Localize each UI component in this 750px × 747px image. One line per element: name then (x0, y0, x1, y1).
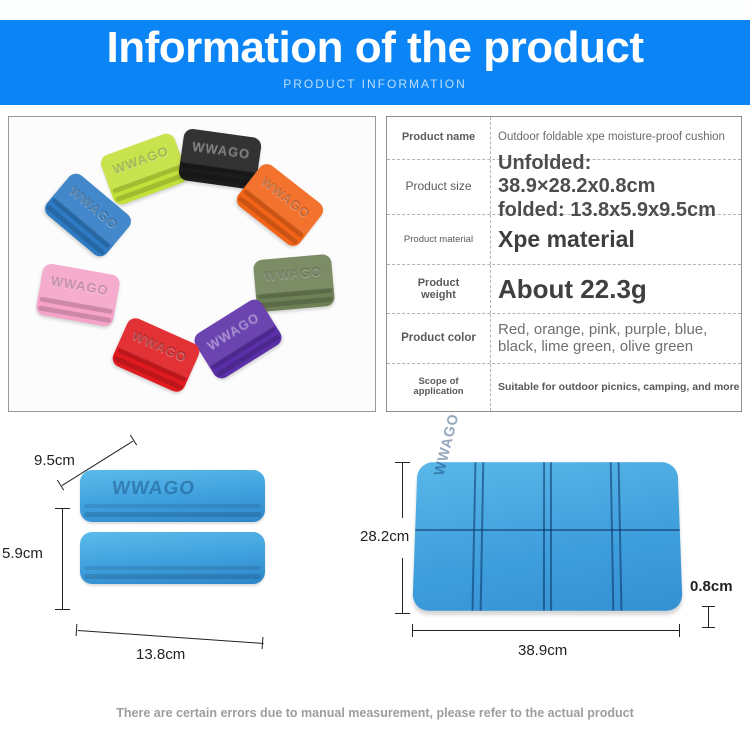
slab-fold-line (84, 512, 262, 517)
unfolded-height-dimension-line-upper (402, 462, 403, 518)
mat-horizontal-fold (415, 529, 680, 530)
unfolded-width-dimension-line (412, 630, 680, 631)
pink-cushion: WWAGO (35, 263, 121, 328)
table-row: Scope of application Suitable for outdoo… (387, 364, 741, 411)
specification-table: Product name Outdoor foldable xpe moistu… (386, 116, 742, 412)
table-row: Product size Unfolded: 38.9×28.2x0.8cm f… (387, 160, 741, 216)
unfolded-width-tick-end (679, 624, 680, 637)
red-cushion: WWAGO (110, 315, 202, 394)
unfolded-thickness-tick-bottom (702, 627, 715, 628)
unfolded-height-label: 28.2cm (360, 528, 409, 545)
unfolded-mat-body: WWAGO (412, 462, 682, 611)
folded-slab-bottom (80, 532, 265, 584)
spec-value: About 22.3g (491, 265, 741, 313)
dimension-diagrams-section: 9.5cm 5.9cm WWAGO 13.8cm 28.2cm (0, 430, 750, 695)
folded-width-label: 13.8cm (136, 646, 185, 663)
mat-vertical-fold (610, 462, 615, 611)
unfolded-thickness-dimension-line (708, 606, 709, 628)
folded-height-tick-top (55, 508, 70, 509)
unfolded-height-tick-top (395, 462, 410, 463)
table-row: Product weight About 22.3g (387, 265, 741, 314)
slab-fold-line (84, 504, 262, 508)
spec-label: Product size (387, 160, 491, 215)
unfolded-thickness-tick-top (702, 606, 715, 607)
mat-vertical-fold (480, 462, 485, 611)
spec-label: Scope of application (387, 364, 491, 411)
spec-label: Product weight (387, 265, 491, 313)
unfolded-height-tick-bottom (395, 613, 410, 614)
spec-label: Product name (387, 117, 491, 159)
table-row: Product material Xpe material (387, 215, 741, 265)
page-subtitle: PRODUCT INFORMATION (283, 77, 467, 91)
table-row: Product color Red, orange, pink, purple,… (387, 314, 741, 364)
folded-width-dimension-line (78, 630, 264, 644)
mat-vertical-fold (471, 462, 476, 611)
folded-depth-tick-end (130, 435, 137, 446)
product-photo-panel: WWAGO WWAGO WWAGO WWAGO (8, 116, 376, 412)
unfolded-width-label: 38.9cm (518, 642, 567, 659)
folded-height-dimension-line (62, 508, 63, 610)
unfolded-height-dimension-line-lower (402, 558, 403, 614)
spec-label: Product color (387, 314, 491, 363)
page-title: Information of the product (107, 26, 644, 70)
spec-value: Suitable for outdoor picnics, camping, a… (491, 364, 741, 411)
header-banner-area: Information of the product PRODUCT INFOR… (0, 0, 750, 108)
cushion-brand-emboss: WWAGO (111, 478, 196, 500)
mat-vertical-fold (550, 462, 552, 611)
product-overview-section: WWAGO WWAGO WWAGO WWAGO (0, 108, 750, 426)
spec-value: Unfolded: 38.9×28.2x0.8cm folded: 13.8x5… (491, 160, 741, 215)
unfolded-thickness-label: 0.8cm (690, 578, 733, 595)
folded-height-tick-bottom (55, 609, 70, 610)
folded-cushion-body: WWAGO (80, 470, 265, 615)
spec-label: Product material (387, 215, 491, 264)
spec-value: Xpe material (491, 215, 741, 264)
cushion-fold-line (259, 297, 332, 308)
mat-vertical-fold (618, 462, 623, 611)
header-banner: Information of the product PRODUCT INFOR… (0, 20, 750, 105)
slab-fold-line (84, 574, 262, 579)
cushion-color-ring: WWAGO WWAGO WWAGO WWAGO (9, 117, 375, 411)
measurement-disclaimer: There are certain errors due to manual m… (0, 706, 750, 720)
folded-height-label: 5.9cm (2, 545, 43, 562)
slab-fold-line (84, 566, 262, 570)
folded-slab-top: WWAGO (80, 470, 265, 522)
folded-depth-label: 9.5cm (34, 452, 75, 469)
mat-vertical-fold (543, 462, 545, 611)
unfolded-cushion-diagram: 28.2cm WWAGO 0.8cm 38.9cm (360, 430, 750, 695)
folded-cushion-diagram: 9.5cm 5.9cm WWAGO 13.8cm (0, 430, 360, 695)
lime-green-cushion: WWAGO (98, 131, 189, 207)
spec-value: Red, orange, pink, purple, blue, black, … (491, 314, 741, 363)
unfolded-width-tick-start (412, 624, 413, 637)
olive-green-cushion: WWAGO (253, 254, 335, 313)
